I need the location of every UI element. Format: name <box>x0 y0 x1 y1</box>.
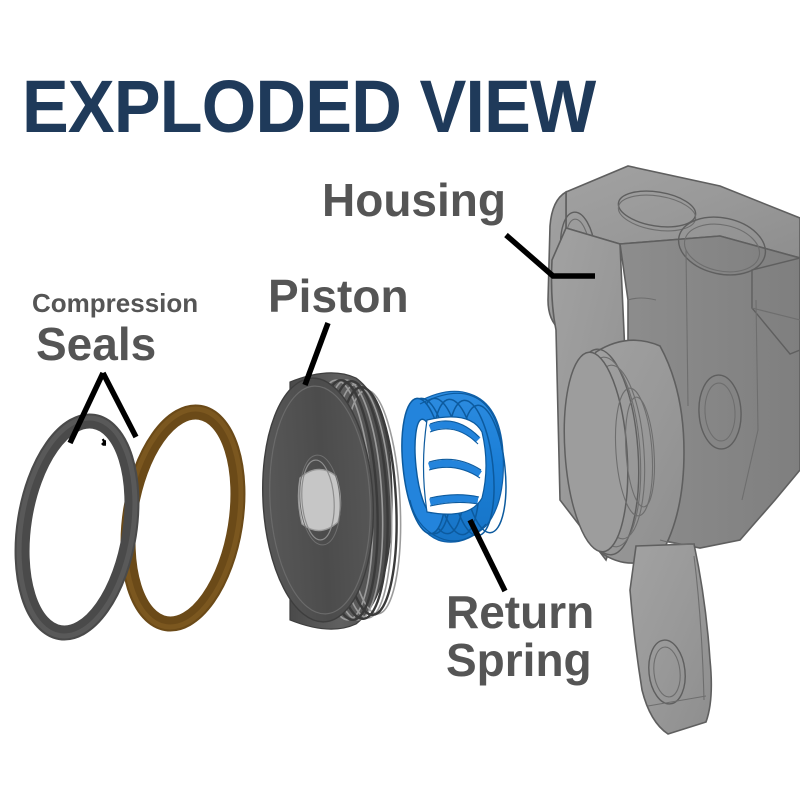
exploded-view-diagram: EXPLODED VIEW <box>0 0 800 800</box>
page-title-text: EXPLODED VIEW <box>22 66 597 148</box>
return-spring-leader <box>470 520 505 591</box>
label-return: Return <box>446 586 594 638</box>
part-return-spring[interactable] <box>396 391 512 542</box>
label-seals: Seals <box>36 318 156 370</box>
housing-mount-leg <box>630 544 711 734</box>
seals-leader <box>103 441 106 443</box>
seals-leader-left-branch <box>70 373 103 443</box>
label-spring: Spring <box>446 634 592 686</box>
label-compression: Compression <box>32 288 198 318</box>
label-piston: Piston <box>268 270 409 322</box>
label-housing: Housing <box>322 174 506 226</box>
diagram-canvas: EXPLODED VIEW <box>0 0 800 800</box>
page-title: EXPLODED VIEW <box>22 66 597 148</box>
part-piston[interactable] <box>257 373 406 629</box>
part-compression-seal-grey[interactable] <box>4 410 149 645</box>
